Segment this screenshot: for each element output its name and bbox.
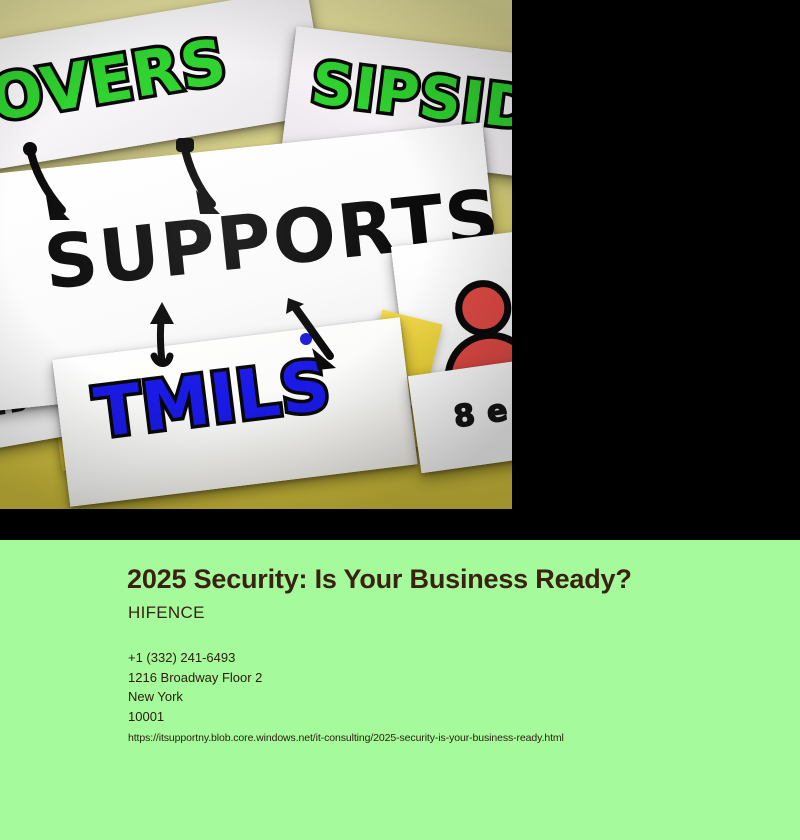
page-root: TOVERS SIPSID EATB ? ? SUPPORTS [0,0,800,840]
contact-street: 1216 Broadway Floor 2 [128,668,262,688]
source-url[interactable]: https://itsupportny.blob.core.windows.ne… [128,732,564,744]
paper-sign-label: 8 e [452,393,511,435]
arrow-icon [20,140,90,230]
contact-phone: +1 (332) 241-6493 [128,648,262,668]
paper-sign-label: TOVERS [0,24,232,143]
contact-block: +1 (332) 241-6493 1216 Broadway Floor 2 … [128,648,262,726]
contact-postal-code: 10001 [128,707,262,727]
contact-city: New York [128,687,262,707]
page-title: 2025 Security: Is Your Business Ready? [127,564,632,595]
article-content: 2025 Security: Is Your Business Ready? H… [0,540,800,840]
arrow-icon [140,300,184,370]
arrow-icon [172,136,242,226]
hero-letterbox-band: TOVERS SIPSID EATB ? ? SUPPORTS [0,0,800,540]
paper-sign-8e: 8 e [408,357,512,474]
arrow-icon [282,296,344,372]
article-hero-image: TOVERS SIPSID EATB ? ? SUPPORTS [0,0,512,509]
brand-name: HIFENCE [128,603,205,623]
person-icon-head [453,277,512,339]
